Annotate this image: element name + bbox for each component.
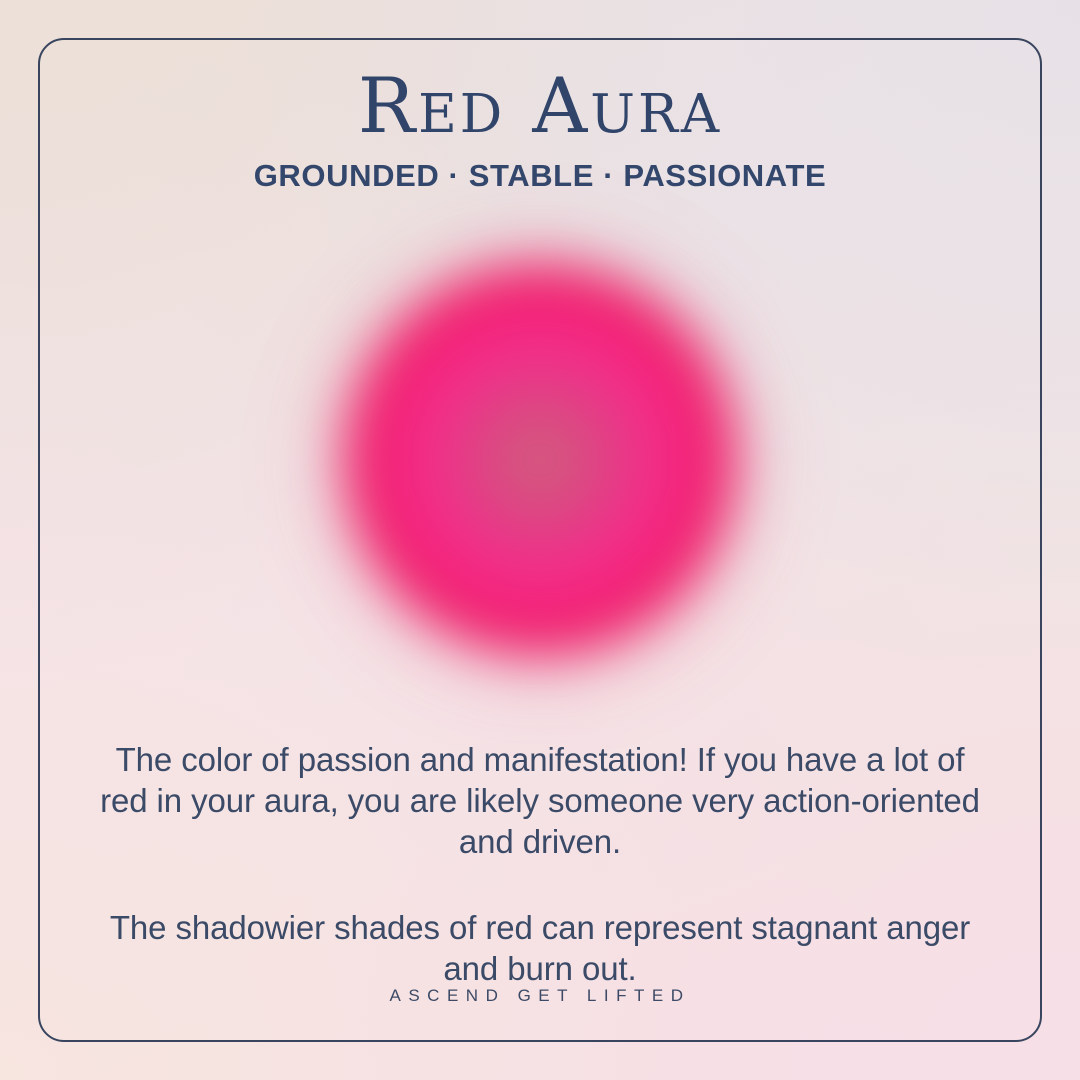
description-paragraph: The shadowier shades of red can represen… — [90, 907, 990, 989]
description-block: The color of passion and manifestation! … — [90, 706, 990, 1022]
card-content: Red Aura GROUNDED · STABLE · PASSIONATE … — [0, 0, 1080, 1080]
page-title: Red Aura — [0, 64, 1080, 148]
aura-card: Red Aura GROUNDED · STABLE · PASSIONATE … — [0, 0, 1080, 1080]
aura-orb-gradient — [345, 265, 735, 655]
brand-footer: ASCEND GET LIFTED — [0, 985, 1080, 1007]
description-paragraph: The color of passion and manifestation! … — [90, 739, 990, 862]
subtitle-traits: GROUNDED · STABLE · PASSIONATE — [0, 157, 1080, 195]
red-aura-orb — [290, 210, 790, 710]
